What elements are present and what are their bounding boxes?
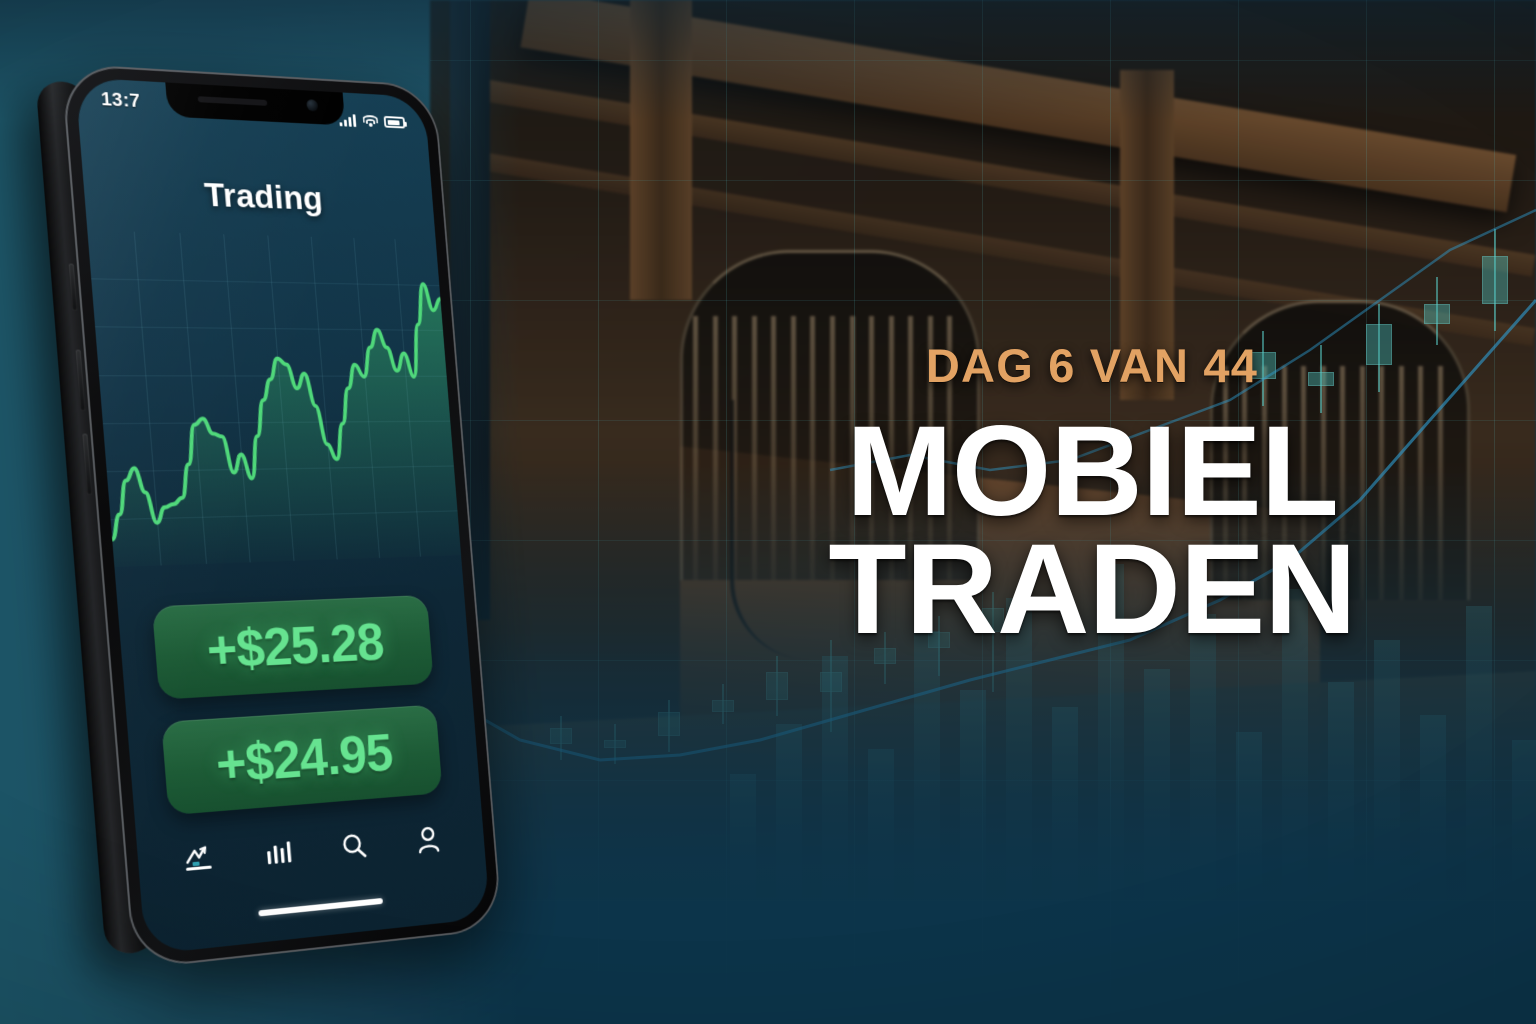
battery-icon [384,116,406,129]
cellular-signal-icon [339,113,357,126]
phone-mockup: 13:7 Trading [25,53,507,980]
gain-badge-value: +$24.95 [214,723,395,796]
wifi-icon [362,114,379,127]
gain-badge[interactable]: +$25.28 [152,595,434,700]
mute-switch[interactable] [69,264,78,311]
tab-markets[interactable] [252,828,305,878]
price-chart[interactable] [87,230,461,567]
candlestick [1482,229,1508,331]
day-counter-kicker: DAG 6 VAN 44 [782,338,1402,393]
promo-image: DAG 6 VAN 44 MOBIEL TRADEN 13:7 [0,0,1536,1024]
app-screen-title: Trading [83,171,435,222]
gain-badge-value: +$25.28 [205,612,386,681]
status-icons [339,113,406,129]
tab-search[interactable] [328,822,380,871]
phone-body: 13:7 Trading [61,63,503,969]
gain-badge-list: +$25.28 +$24.95 [152,595,444,838]
tab-portfolio[interactable] [173,835,228,886]
page-title: MOBIEL TRADEN [782,413,1402,649]
person-icon [414,824,442,855]
headline-line-2: TRADEN [782,531,1402,649]
promo-text-block: DAG 6 VAN 44 MOBIEL TRADEN [782,338,1402,649]
chart-gridlines [87,230,461,567]
home-indicator[interactable] [258,898,383,917]
status-time: 13:7 [100,89,141,113]
candlestick [1424,277,1450,345]
gain-badge[interactable]: +$24.95 [161,705,442,816]
bar-chart-icon [263,838,294,868]
phone-screen[interactable]: 13:7 Trading [75,77,490,955]
trend-arrow-icon [182,844,218,877]
tab-profile[interactable] [403,816,453,865]
search-icon [339,831,369,863]
